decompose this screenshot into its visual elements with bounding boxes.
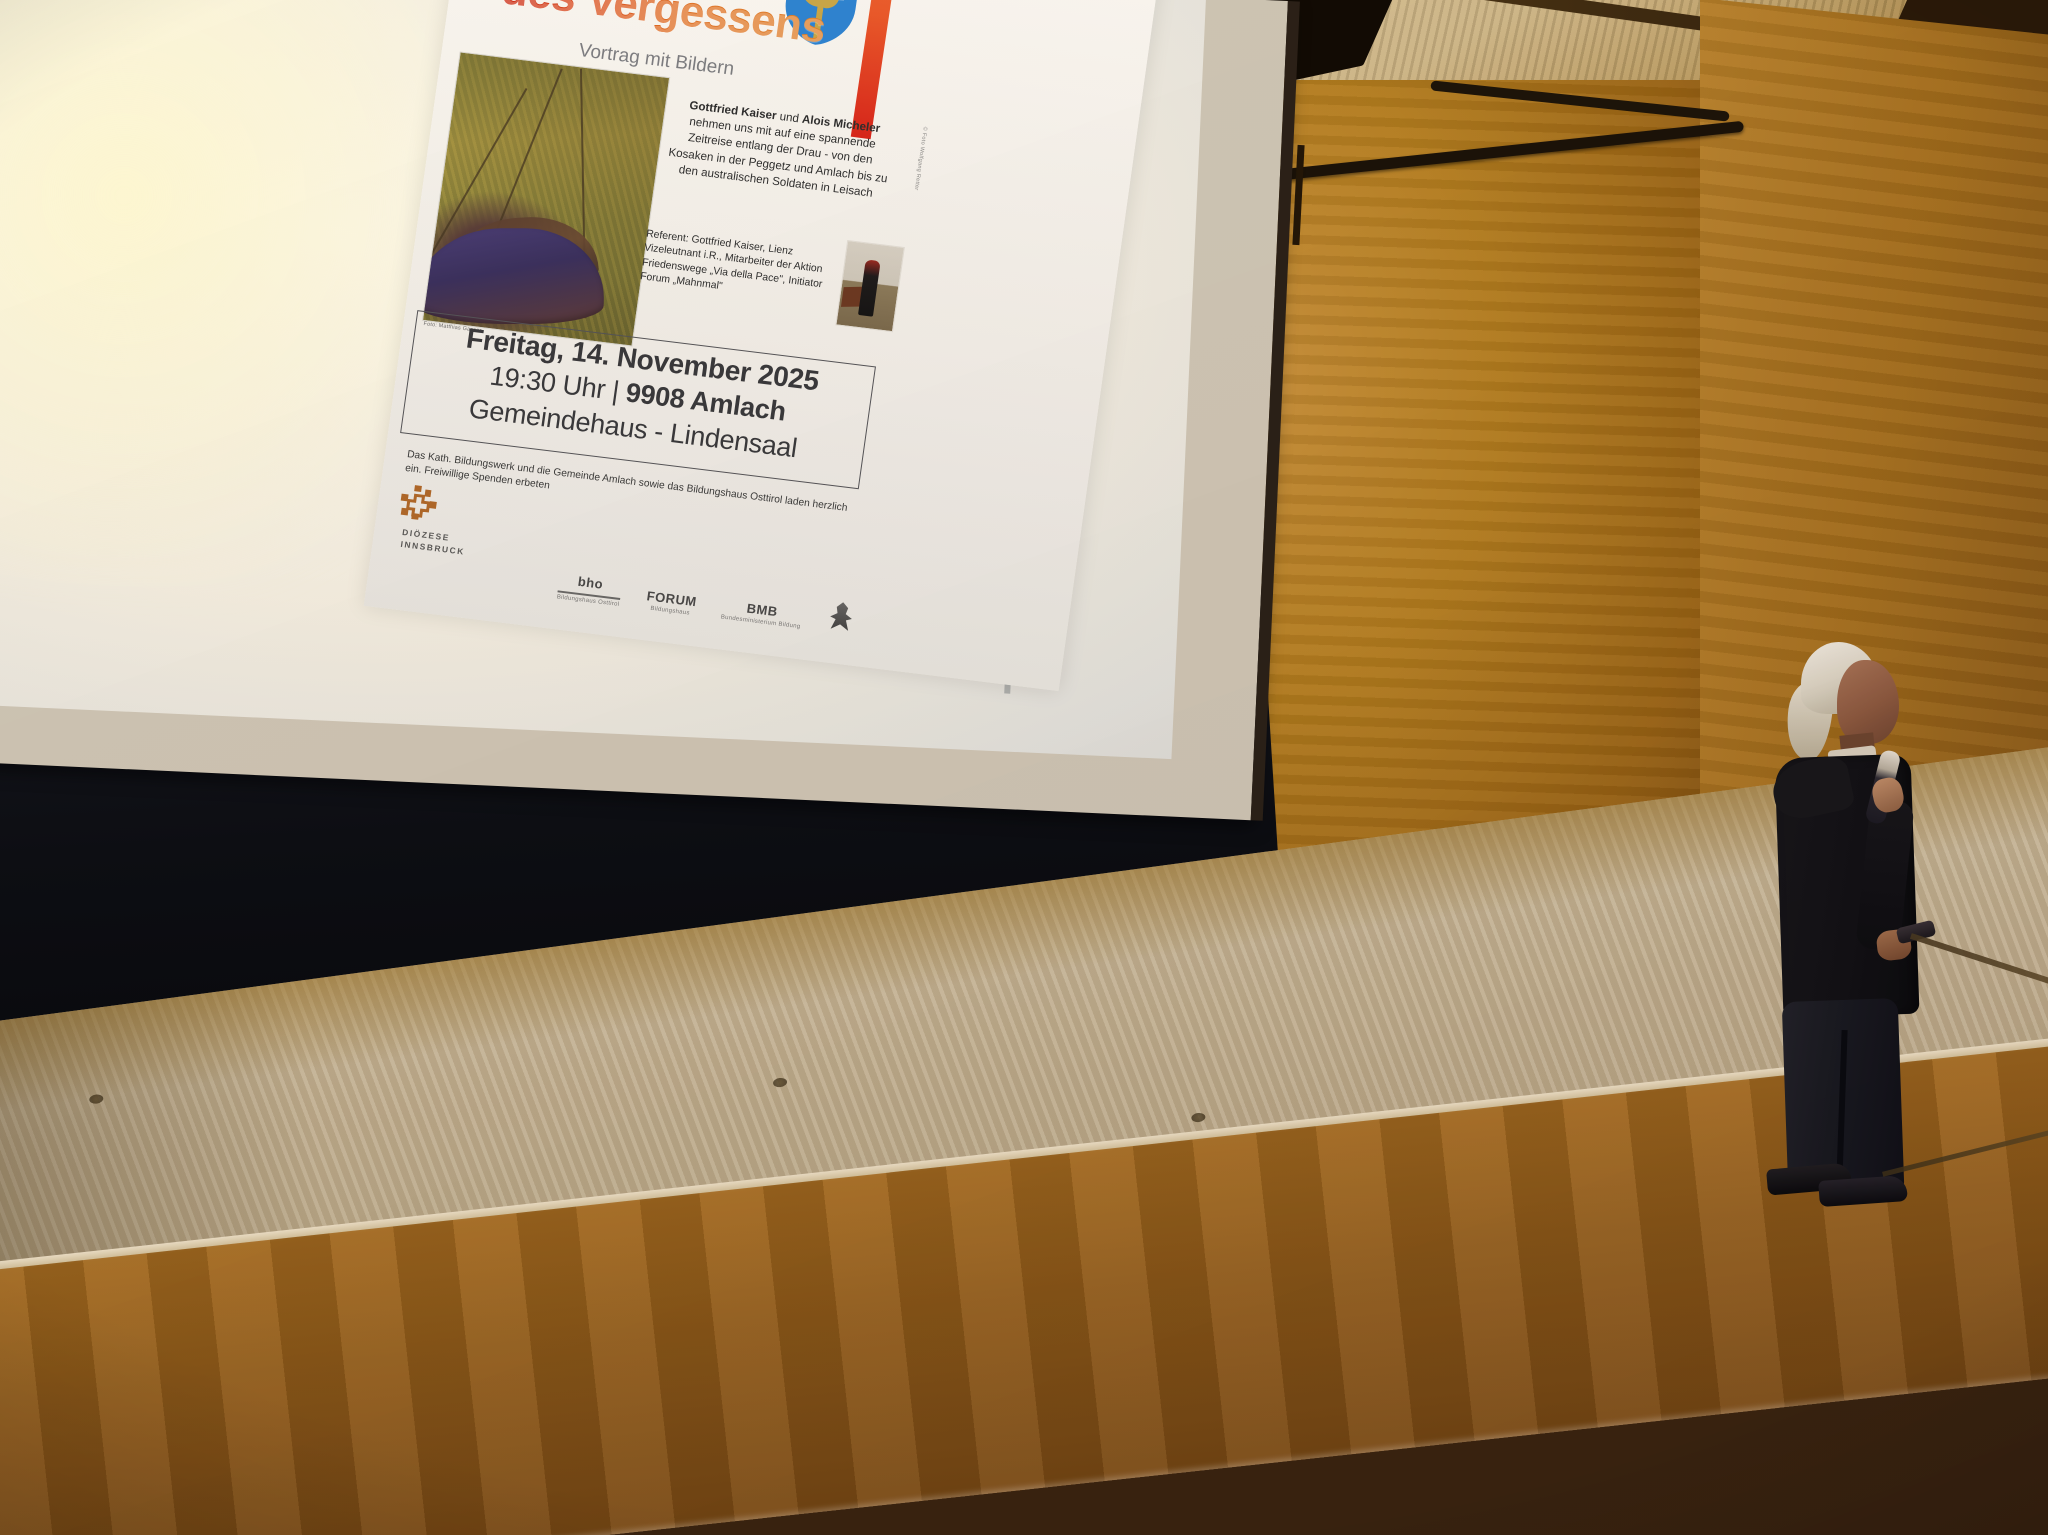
speaker-figure: [1745, 630, 1975, 1190]
projection-screen-surface: KATHOLISCHES BILDUNGSWERK TIROL Gegen de…: [0, 0, 1207, 759]
diocese-cross-icon: [396, 481, 441, 524]
event-poster-slide: KATHOLISCHES BILDUNGSWERK TIROL Gegen de…: [364, 0, 1162, 691]
sponsor-logo: [826, 601, 857, 638]
diocese-label: DIÖZESE INNSBRUCK: [400, 526, 468, 558]
poster-photo: [422, 51, 670, 346]
photo-scene: KATHOLISCHES BILDUNGSWERK TIROL Gegen de…: [0, 0, 2048, 1535]
austria-eagle-icon: [826, 601, 857, 638]
side-photo-credit: © Foto Wolfgang Retter: [913, 126, 928, 190]
sponsor-logo-row: bho Bildungshaus Osttirol FORUM Bildungs…: [556, 550, 1030, 659]
speaker-portrait-photo: [835, 240, 905, 332]
sponsor-logo: FORUM Bildungshaus: [645, 589, 698, 619]
speaker-bio-text: Referent: Gottfried Kaiser, Lienz Vizele…: [639, 228, 836, 308]
sponsor-logo: BMB Bundesministerium Bildung: [720, 598, 803, 631]
sponsor-logo: bho Bildungshaus Osttirol: [556, 572, 623, 609]
portrait-figure: [858, 259, 881, 316]
speaker-face: [1837, 660, 1899, 744]
